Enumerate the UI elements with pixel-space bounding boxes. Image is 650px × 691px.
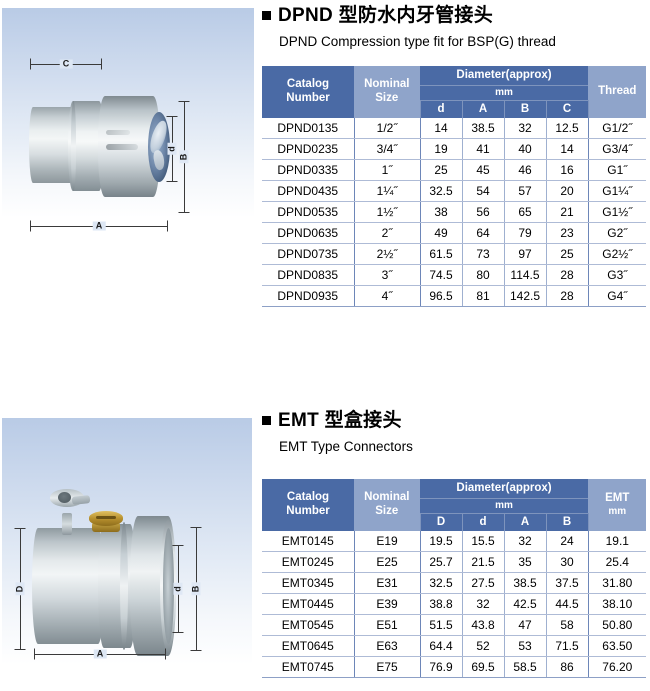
dpnd-illustration: C A d B — [2, 8, 254, 236]
value-cell-3: 40 — [504, 139, 546, 160]
catalog-cell: DPND0235 — [262, 139, 354, 160]
value-cell-1: 32.5 — [420, 181, 462, 202]
value-cell-2: 52 — [462, 636, 504, 657]
table-row: EMT0345E3132.527.538.537.531.80 — [262, 573, 646, 594]
spec-table-emt-body: EMT0145E1919.515.5322419.1EMT0245E2525.7… — [262, 531, 646, 678]
last-cell: G3˝ — [588, 265, 646, 286]
column-header-diameter-group: Diameter(approx) — [420, 66, 588, 86]
value-cell-1: 38.8 — [420, 594, 462, 615]
nominal-cell: 1¼˝ — [354, 181, 420, 202]
column-header-unit: mm — [420, 86, 588, 101]
column-header-catalog: Catalog Number — [262, 479, 354, 531]
last-cell: G2½˝ — [588, 244, 646, 265]
dimension-c: C — [30, 58, 102, 70]
value-cell-2: 69.5 — [462, 657, 504, 678]
value-cell-1: 74.5 — [420, 265, 462, 286]
value-cell-3: 114.5 — [504, 265, 546, 286]
catalog-cell: DPND0635 — [262, 223, 354, 244]
value-cell-1: 25.7 — [420, 552, 462, 573]
value-cell-4: 24 — [546, 531, 588, 552]
last-cell: G1½˝ — [588, 202, 646, 223]
value-cell-2: 81 — [462, 286, 504, 307]
catalog-cell: EMT0545 — [262, 615, 354, 636]
value-cell-3: 38.5 — [504, 573, 546, 594]
catalog-cell: DPND0735 — [262, 244, 354, 265]
value-cell-3: 142.5 — [504, 286, 546, 307]
value-cell-4: 12.5 — [546, 118, 588, 139]
value-cell-1: 19.5 — [420, 531, 462, 552]
table-row: DPND01351/2˝1438.53212.5G1/2˝ — [262, 118, 646, 139]
value-cell-3: 58.5 — [504, 657, 546, 678]
section-title-cn: EMT 型盒接头 — [278, 409, 402, 433]
nominal-cell: 3/4˝ — [354, 139, 420, 160]
section-title-en: DPND Compression type fit for BSP(G) thr… — [279, 33, 556, 51]
value-cell-1: 61.5 — [420, 244, 462, 265]
value-cell-2: 45 — [462, 160, 504, 181]
value-cell-3: 79 — [504, 223, 546, 244]
value-cell-4: 16 — [546, 160, 588, 181]
nominal-cell: 1/2˝ — [354, 118, 420, 139]
catalog-cell: DPND0135 — [262, 118, 354, 139]
table-row: EMT0745E7576.969.558.58676.20 — [262, 657, 646, 678]
table-row: EMT0145E1919.515.5322419.1 — [262, 531, 646, 552]
value-cell-2: 54 — [462, 181, 504, 202]
fitting-hex-ring — [71, 101, 76, 191]
catalog-cell: EMT0445 — [262, 594, 354, 615]
last-cell: 63.50 — [588, 636, 646, 657]
catalog-cell: EMT0345 — [262, 573, 354, 594]
value-cell-2: 56 — [462, 202, 504, 223]
nominal-cell: E63 — [354, 636, 420, 657]
nominal-cell: 2˝ — [354, 223, 420, 244]
table-row: DPND09354˝96.581142.528G4˝ — [262, 286, 646, 307]
section-heading-dpnd: DPND 型防水内牙管接头 DPND Compression type fit … — [262, 4, 556, 50]
spec-table-dpnd: Catalog Number Nominal Size Diameter(app… — [262, 66, 646, 307]
catalog-cell: EMT0645 — [262, 636, 354, 657]
nominal-cell: 3˝ — [354, 265, 420, 286]
value-cell-2: 73 — [462, 244, 504, 265]
value-cell-3: 46 — [504, 160, 546, 181]
value-cell-2: 38.5 — [462, 118, 504, 139]
value-cell-4: 25 — [546, 244, 588, 265]
section-title-en: EMT Type Connectors — [279, 438, 413, 456]
value-cell-3: 65 — [504, 202, 546, 223]
column-header-nominal: Nominal Size — [354, 66, 420, 118]
value-cell-2: 32 — [462, 594, 504, 615]
table-row: EMT0445E3938.83242.544.538.10 — [262, 594, 646, 615]
column-header-diameter-group: Diameter(approx) — [420, 479, 588, 499]
spec-table-emt: Catalog Number Nominal Size Diameter(app… — [262, 479, 646, 678]
nominal-cell: 1½˝ — [354, 202, 420, 223]
value-cell-3: 42.5 — [504, 594, 546, 615]
value-cell-4: 28 — [546, 286, 588, 307]
value-cell-1: 49 — [420, 223, 462, 244]
value-cell-1: 38 — [420, 202, 462, 223]
value-cell-4: 44.5 — [546, 594, 588, 615]
value-cell-1: 64.4 — [420, 636, 462, 657]
dimension-b: B — [178, 101, 190, 213]
section-heading-emt: EMT 型盒接头 EMT Type Connectors — [262, 409, 413, 455]
value-cell-4: 37.5 — [546, 573, 588, 594]
column-header-catalog: Catalog Number — [262, 66, 354, 118]
table-row: DPND07352½˝61.5739725G2½˝ — [262, 244, 646, 265]
last-cell: 38.10 — [588, 594, 646, 615]
fitting-slot — [106, 144, 138, 150]
nominal-cell: E75 — [354, 657, 420, 678]
nominal-cell: E31 — [354, 573, 420, 594]
product-image-emt — [2, 418, 252, 686]
value-cell-3: 57 — [504, 181, 546, 202]
catalog-cell: EMT0145 — [262, 531, 354, 552]
catalog-cell: EMT0245 — [262, 552, 354, 573]
catalog-cell: DPND0535 — [262, 202, 354, 223]
table-row: DPND02353/4˝19414014G3/4˝ — [262, 139, 646, 160]
nominal-cell: E39 — [354, 594, 420, 615]
value-cell-4: 28 — [546, 265, 588, 286]
table-row: DPND08353˝74.580114.528G3˝ — [262, 265, 646, 286]
column-header-emt: EMT mm — [588, 479, 646, 531]
catalog-cell: DPND0835 — [262, 265, 354, 286]
table-row: EMT0245E2525.721.5353025.4 — [262, 552, 646, 573]
value-cell-3: 47 — [504, 615, 546, 636]
table-row: EMT0645E6364.4525371.563.50 — [262, 636, 646, 657]
last-cell: 25.4 — [588, 552, 646, 573]
table-row: DPND06352˝49647923G2˝ — [262, 223, 646, 244]
last-cell: 31.80 — [588, 573, 646, 594]
dimension-a: A — [30, 220, 168, 232]
value-cell-3: 32 — [504, 118, 546, 139]
spec-table-dpnd-body: DPND01351/2˝1438.53212.5G1/2˝DPND02353/4… — [262, 118, 646, 307]
column-header-nominal: Nominal Size — [354, 479, 420, 531]
catalog-cell: EMT0745 — [262, 657, 354, 678]
table-row: DPND05351½˝38566521G1½˝ — [262, 202, 646, 223]
nominal-cell: E51 — [354, 615, 420, 636]
table-row: DPND03351˝25454616G1˝ — [262, 160, 646, 181]
dimension-d: d — [166, 116, 178, 182]
last-cell: 19.1 — [588, 531, 646, 552]
value-cell-2: 64 — [462, 223, 504, 244]
value-cell-1: 96.5 — [420, 286, 462, 307]
value-cell-3: 35 — [504, 552, 546, 573]
value-cell-3: 97 — [504, 244, 546, 265]
value-cell-1: 32.5 — [420, 573, 462, 594]
value-cell-4: 23 — [546, 223, 588, 244]
column-header-unit: mm — [420, 499, 588, 514]
value-cell-4: 20 — [546, 181, 588, 202]
section-title-cn: DPND 型防水内牙管接头 — [278, 4, 493, 28]
fitting-slot-secondary — [106, 130, 130, 135]
last-cell: G3/4˝ — [588, 139, 646, 160]
nominal-cell: 2½˝ — [354, 244, 420, 265]
column-header-a: A — [462, 101, 504, 119]
value-cell-1: 19 — [420, 139, 462, 160]
product-image-dpnd: C A d B — [2, 8, 254, 236]
catalog-cell: DPND0335 — [262, 160, 354, 181]
value-cell-1: 76.9 — [420, 657, 462, 678]
value-cell-2: 21.5 — [462, 552, 504, 573]
value-cell-4: 21 — [546, 202, 588, 223]
column-header-d-small: d — [462, 514, 504, 532]
nominal-cell: E25 — [354, 552, 420, 573]
value-cell-3: 53 — [504, 636, 546, 657]
value-cell-4: 14 — [546, 139, 588, 160]
last-cell: G1˝ — [588, 160, 646, 181]
last-cell: G1¼˝ — [588, 181, 646, 202]
last-cell: 50.80 — [588, 615, 646, 636]
catalog-cell: DPND0935 — [262, 286, 354, 307]
column-header-d-capital: D — [420, 514, 462, 532]
column-header-d: d — [420, 101, 462, 119]
value-cell-2: 80 — [462, 265, 504, 286]
column-header-a: A — [504, 514, 546, 532]
column-header-c: C — [546, 101, 588, 119]
nominal-cell: 1˝ — [354, 160, 420, 181]
value-cell-2: 43.8 — [462, 615, 504, 636]
value-cell-4: 71.5 — [546, 636, 588, 657]
value-cell-1: 14 — [420, 118, 462, 139]
last-cell: G1/2˝ — [588, 118, 646, 139]
value-cell-2: 15.5 — [462, 531, 504, 552]
square-bullet-icon — [262, 11, 271, 20]
value-cell-1: 51.5 — [420, 615, 462, 636]
value-cell-2: 41 — [462, 139, 504, 160]
column-header-thread: Thread — [588, 66, 646, 118]
value-cell-1: 25 — [420, 160, 462, 181]
last-cell: G2˝ — [588, 223, 646, 244]
last-cell: 76.20 — [588, 657, 646, 678]
square-bullet-icon — [262, 416, 271, 425]
last-cell: G4˝ — [588, 286, 646, 307]
column-header-b: B — [546, 514, 588, 532]
column-header-b: B — [504, 101, 546, 119]
value-cell-3: 32 — [504, 531, 546, 552]
value-cell-4: 30 — [546, 552, 588, 573]
value-cell-2: 27.5 — [462, 573, 504, 594]
nominal-cell: E19 — [354, 531, 420, 552]
value-cell-4: 58 — [546, 615, 588, 636]
catalog-cell: DPND0435 — [262, 181, 354, 202]
table-row: DPND04351¼˝32.5545720G1¼˝ — [262, 181, 646, 202]
table-row: EMT0545E5151.543.8475850.80 — [262, 615, 646, 636]
value-cell-4: 86 — [546, 657, 588, 678]
nominal-cell: 4˝ — [354, 286, 420, 307]
emt-illustration — [2, 418, 252, 686]
